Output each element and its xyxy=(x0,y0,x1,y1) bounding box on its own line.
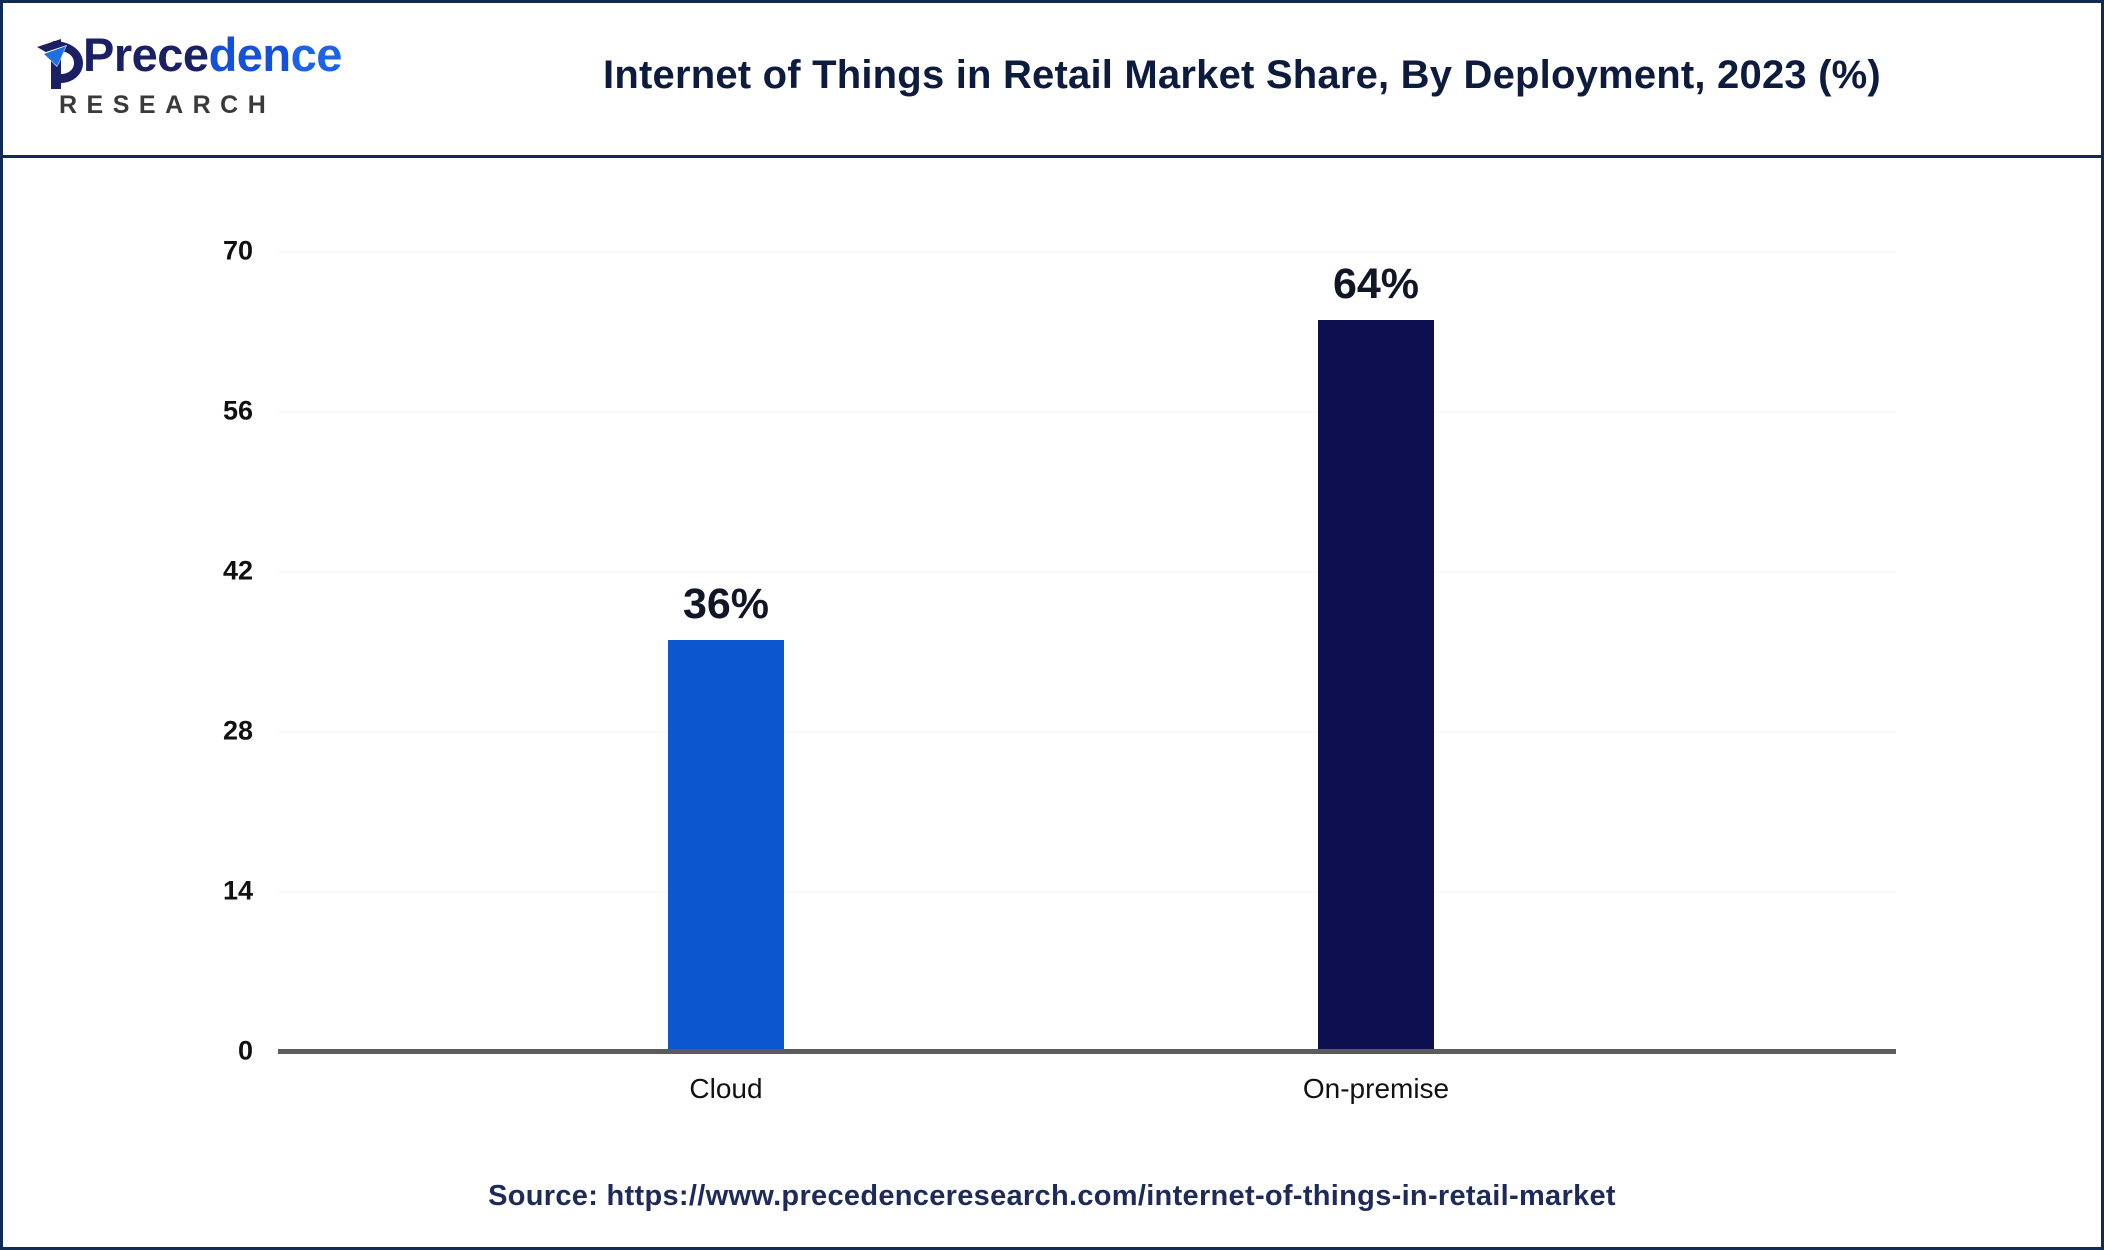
logo-wordmark: Precedence xyxy=(83,31,342,78)
bar-value-on-premise: 64% xyxy=(1333,260,1419,309)
gridline xyxy=(278,571,1896,573)
gridline xyxy=(278,411,1896,413)
y-tick-label: 42 xyxy=(103,556,253,587)
bar-on-premise[interactable]: 64% On-premise xyxy=(1318,320,1434,1051)
plot-area: 36% Cloud 64% On-premise xyxy=(278,251,1896,1051)
logo-word-part1: Prece xyxy=(83,28,209,81)
source-text: Source: https://www.precedenceresearch.c… xyxy=(3,1180,2101,1213)
precedence-research-logo: Precedence RESEARCH xyxy=(31,29,331,125)
chart-plot-wrapper: 36% Cloud 64% On-premise 70 56 42 28 14 … xyxy=(3,158,2101,1250)
bar-category-on-premise: On-premise xyxy=(1303,1073,1449,1105)
y-tick-label: 0 xyxy=(103,1036,253,1067)
logo-subtitle: RESEARCH xyxy=(59,91,275,120)
y-axis-tick-labels: 70 56 42 28 14 0 xyxy=(88,251,253,1051)
x-axis-line xyxy=(278,1049,1896,1054)
bar-value-cloud: 36% xyxy=(683,580,769,629)
y-tick-label: 14 xyxy=(103,876,253,907)
gridline xyxy=(278,891,1896,893)
bar-cloud[interactable]: 36% Cloud xyxy=(668,640,784,1051)
bar-category-cloud: Cloud xyxy=(689,1073,762,1105)
logo-word-part2: den xyxy=(209,28,291,81)
gridline xyxy=(278,251,1896,253)
chart-page: Precedence RESEARCH Internet of Things i… xyxy=(0,0,2104,1250)
y-tick-label: 70 xyxy=(103,236,253,267)
logo-word-part3: ce xyxy=(291,28,342,81)
gridline xyxy=(278,731,1896,733)
y-tick-label: 56 xyxy=(103,396,253,427)
page-header: Precedence RESEARCH Internet of Things i… xyxy=(3,3,2101,158)
page-title: Internet of Things in Retail Market Shar… xyxy=(423,53,2061,98)
y-tick-label: 28 xyxy=(103,716,253,747)
